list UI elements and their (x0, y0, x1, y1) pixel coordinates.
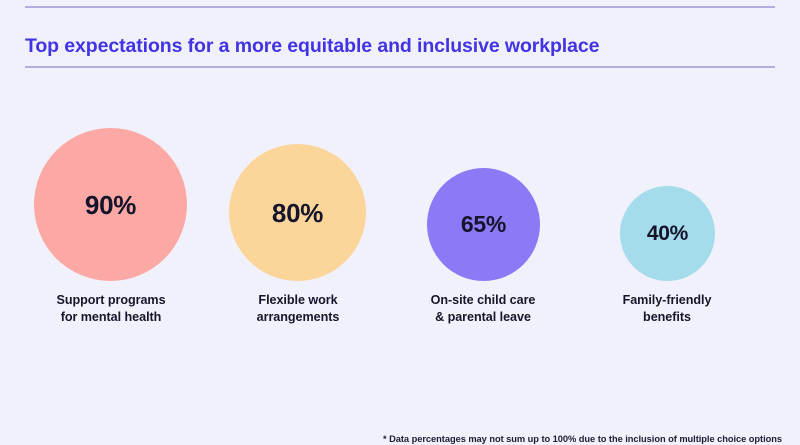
bubble-value: 65% (461, 213, 506, 236)
header-divider-top (25, 6, 775, 8)
bubble-item: 90% Support programs for mental health (11, 110, 211, 340)
bubble-chart: 90% Support programs for mental health 8… (0, 110, 800, 340)
bubble-circle: 40% (620, 186, 715, 281)
bubble-value: 80% (272, 200, 323, 226)
bubble-item: 40% Family-friendly benefits (577, 110, 757, 340)
bubble-label-line-2: for mental health (11, 309, 211, 326)
bubble-label-line-2: benefits (577, 309, 757, 326)
footnote-text: * Data percentages may not sum up to 100… (383, 434, 782, 444)
bubble-circle: 90% (34, 128, 187, 281)
bubble-label-line-1: Support programs (11, 292, 211, 309)
bubble-label: On-site child care & parental leave (393, 292, 573, 327)
bubble-label-line-1: Flexible work (208, 292, 388, 309)
bubble-label-line-1: Family-friendly (577, 292, 757, 309)
bubble-label-line-1: On-site child care (393, 292, 573, 309)
bubble-circle: 80% (229, 144, 366, 281)
bubble-label: Support programs for mental health (11, 292, 211, 327)
bubble-value: 40% (647, 223, 688, 244)
bubble-label: Flexible work arrangements (208, 292, 388, 327)
bubble-label-line-2: & parental leave (393, 309, 573, 326)
bubble-label: Family-friendly benefits (577, 292, 757, 327)
header-divider-bottom (25, 66, 775, 68)
bubble-item: 65% On-site child care & parental leave (393, 110, 573, 340)
bubble-value: 90% (85, 192, 136, 218)
bubble-circle: 65% (427, 168, 540, 281)
bubble-item: 80% Flexible work arrangements (208, 110, 388, 340)
bubble-label-line-2: arrangements (208, 309, 388, 326)
infographic-slide: Top expectations for a more equitable an… (0, 0, 800, 445)
page-title: Top expectations for a more equitable an… (25, 35, 599, 58)
